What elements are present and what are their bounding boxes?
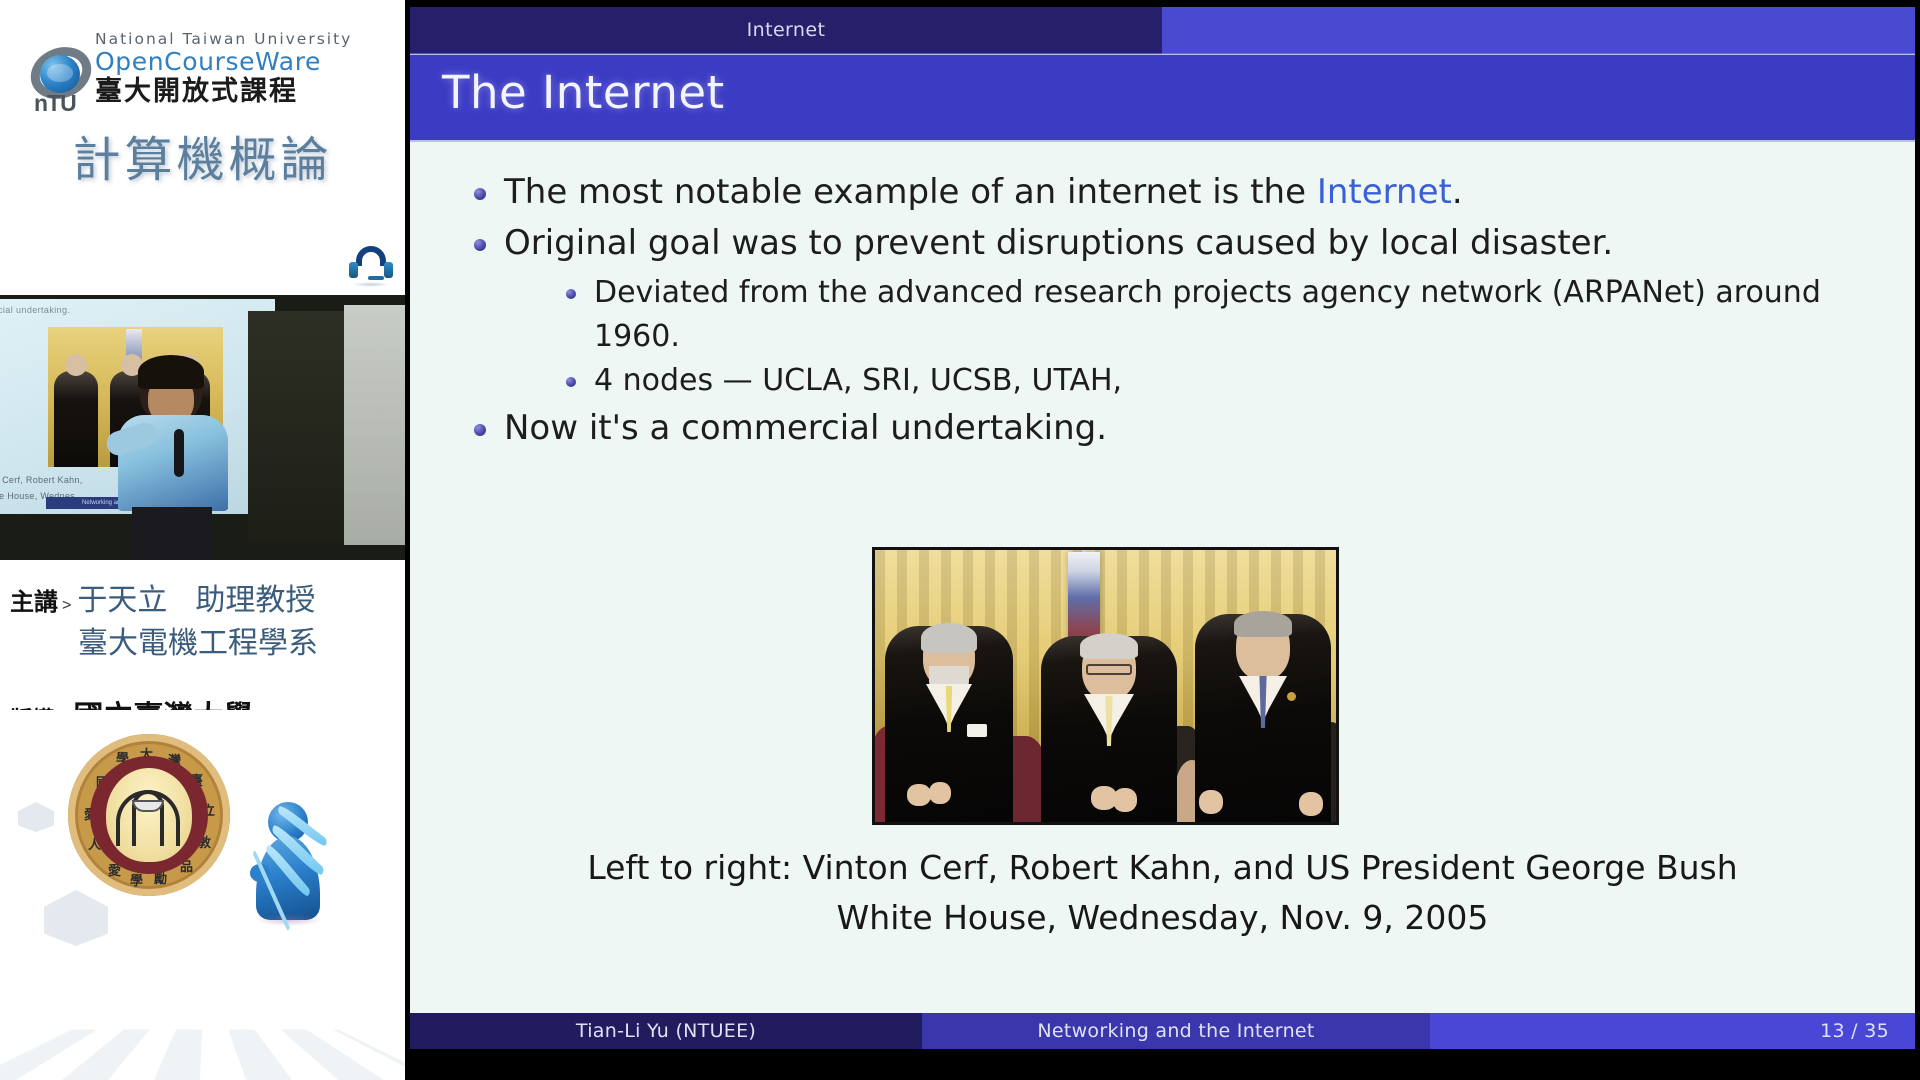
bullet-item: Original goal was to prevent disruptions… <box>468 218 1915 403</box>
slide-footer: Tian-Li Yu (NTUEE) Networking and the In… <box>410 1013 1915 1049</box>
bullet-dot-icon <box>474 424 486 436</box>
instructor-label: 主講 <box>10 582 58 617</box>
footer-page-value: 13 / 35 <box>1820 1013 1889 1049</box>
bullet-text-before: The most notable example of an internet … <box>504 172 1317 212</box>
lecturer-figure <box>112 357 242 560</box>
footer-section: Networking and the Internet <box>922 1013 1430 1049</box>
bullet-text-after: . <box>1452 172 1463 212</box>
slide-bottom-border <box>410 1049 1915 1069</box>
thumb-caption-1: n Cerf, Robert Kahn, <box>0 475 83 485</box>
bullet-dot-icon <box>566 377 576 387</box>
ntu-seal-block: 大 灣 學 臺 國 立 愛 敦 人 品 愛 勵 學 <box>0 710 405 1080</box>
lecture-room-door <box>248 311 344 543</box>
logo-line-ocw: OpenCourseWare <box>95 48 395 76</box>
quill-icon <box>266 798 350 916</box>
logo-line-university: National Taiwan University <box>95 30 395 48</box>
bullet-item: The most notable example of an internet … <box>468 167 1915 218</box>
bullet-text-before: Original goal was to prevent disruptions… <box>504 223 1613 263</box>
lecture-video-thumbnail[interactable]: cial undertaking. n Cerf, Robert Kahn, i… <box>0 295 405 560</box>
slide-title: The Internet <box>442 66 725 119</box>
headset-icon <box>348 246 394 286</box>
footer-page-number: 13 / 35 <box>1430 1013 1915 1049</box>
instructor-department: 臺大電機工程學系 <box>78 626 318 661</box>
beamer-navigation-bar[interactable]: Internet <box>410 7 1915 54</box>
bullet-list-level2: Deviated from the advanced research proj… <box>562 271 1915 403</box>
footer-author: Tian-Li Yu (NTUEE) <box>410 1013 922 1049</box>
course-sidebar: nTU National Taiwan University OpenCours… <box>0 0 405 1080</box>
caption-line-2: White House, Wednesday, Nov. 9, 2005 <box>410 893 1915 943</box>
person-robert-kahn <box>1041 636 1177 822</box>
decorative-cube <box>18 802 54 832</box>
instructor-name: 于天立 <box>77 575 167 619</box>
bullet-dot-icon <box>566 289 576 299</box>
bullet-item: Now it's a commercial undertaking. <box>468 403 1915 454</box>
slide-photo <box>872 547 1339 825</box>
ntu-wordmark: nTU <box>34 90 76 117</box>
sub-bullet-text: Deviated from the advanced research proj… <box>594 275 1821 354</box>
ntu-seal-icon: 大 灣 學 臺 國 立 愛 敦 人 品 愛 勵 學 <box>68 734 230 896</box>
person-vinton-cerf <box>885 626 1013 822</box>
instructor-row: 主講 > 于天立 助理教授 <box>10 575 315 619</box>
globe-icon: nTU <box>26 48 96 114</box>
slide-title-band: The Internet <box>410 55 1915 141</box>
sub-bullet-text: 4 nodes — UCLA, SRI, UCSB, UTAH, <box>594 363 1122 398</box>
decorative-cube <box>44 890 108 946</box>
person-george-bush <box>1195 614 1331 822</box>
sub-bullet-item: Deviated from the advanced research proj… <box>562 271 1915 359</box>
slide-body: The most notable example of an internet … <box>410 143 1915 1023</box>
screen: nTU National Taiwan University OpenCours… <box>0 0 1920 1080</box>
photo-caption: Left to right: Vinton Cerf, Robert Kahn,… <box>410 843 1915 943</box>
course-title: 計算機概論 <box>0 120 405 190</box>
bullet-text-before: Now it's a commercial undertaking. <box>504 408 1107 448</box>
ocw-logo: nTU National Taiwan University OpenCours… <box>0 26 405 118</box>
instructor-separator: > <box>62 597 71 615</box>
ocw-mascot-icon <box>252 802 324 924</box>
logo-line-chinese: 臺大開放式課程 <box>95 76 395 108</box>
instructor-rank: 助理教授 <box>195 575 315 619</box>
slide-frame: Internet The Internet The most notable e… <box>410 7 1915 1069</box>
bullet-highlight: Internet <box>1317 172 1452 212</box>
bullet-dot-icon <box>474 239 486 251</box>
slide-viewer: Internet The Internet The most notable e… <box>405 0 1920 1080</box>
checkered-floor <box>0 1029 405 1080</box>
title-underline <box>410 140 1915 142</box>
nav-section-label: Internet <box>410 7 1162 54</box>
lecture-room-wall <box>344 305 405 545</box>
caption-line-1: Left to right: Vinton Cerf, Robert Kahn,… <box>410 843 1915 893</box>
instructor-department-row: 臺大電機工程學系 <box>78 618 318 662</box>
bullet-dot-icon <box>474 188 486 200</box>
thumb-slide-text: cial undertaking. <box>0 305 70 315</box>
sub-bullet-item: 4 nodes — UCLA, SRI, UCSB, UTAH, <box>562 359 1915 403</box>
bullet-list-level1: The most notable example of an internet … <box>468 167 1915 454</box>
